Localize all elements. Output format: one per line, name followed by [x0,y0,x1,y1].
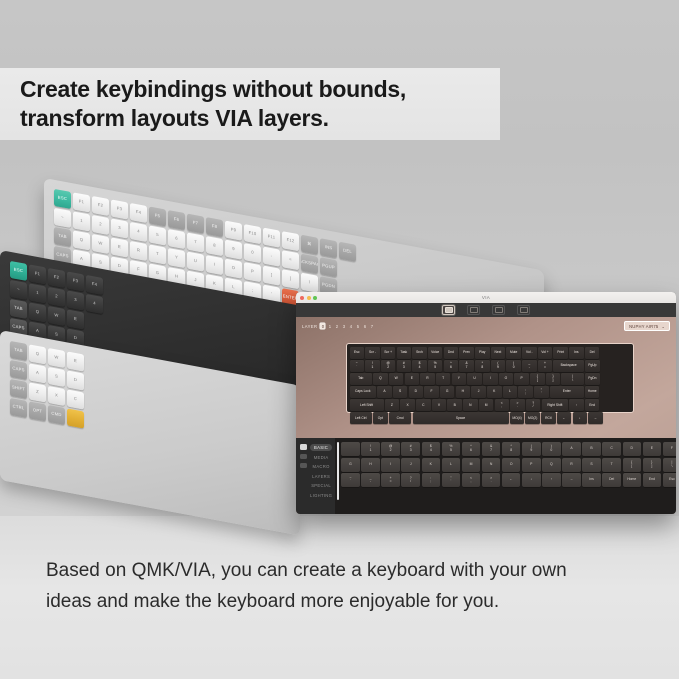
key-base-legend: 8 [481,366,483,369]
keycap: C [67,389,84,409]
key-base-legend: ' [541,392,542,395]
keycap: F3 [67,271,84,291]
picker-key[interactable]: (9 [522,442,541,456]
via-key[interactable]: &7 [459,360,474,372]
picker-key[interactable]: *8 [502,442,521,456]
layer-button-7[interactable]: 7 [369,323,374,329]
key-base-legend: 4 [419,366,421,369]
keycap: F3 [111,199,128,219]
via-key[interactable]: C [416,399,431,411]
picker-key[interactable]: A [562,442,581,456]
picker-key[interactable]: Q [542,458,561,472]
picker-key[interactable]: F [663,442,676,456]
via-key[interactable]: B [447,399,462,411]
picker-key[interactable]: B [582,442,601,456]
key-base-legend: 6 [470,449,472,453]
keycap: INS [320,238,337,258]
via-key[interactable]: A [377,386,392,398]
via-key[interactable]: ↓ [573,412,588,424]
keycap: F5 [149,206,166,226]
layer-label: LAYER [302,324,317,329]
headline-banner: Create keybindings without bounds, trans… [0,68,500,140]
via-key[interactable]: V [432,399,447,411]
keycap: S [48,367,65,387]
keycap: 2 [48,287,65,307]
via-topbar: LAYER 01234567 NUPHY AIR75 ⌄ [296,317,676,331]
via-key[interactable]: Play [475,347,490,359]
via-key[interactable]: Vol + [538,347,553,359]
sidebar-item-lighting[interactable]: LIGHTING [310,492,332,499]
via-key[interactable]: <, [495,399,510,411]
via-key-row: Left ShiftZXCVBNM<,>.?/Right Shift↑End [350,399,631,411]
sidebar-item-layers[interactable]: LAYERS [310,473,332,480]
sidebar-rail[interactable] [299,443,307,509]
picker-key[interactable]: → [562,473,581,487]
picker-key[interactable]: Del [602,473,621,487]
keycap: ] [282,269,299,289]
picker-key[interactable]: H [361,458,380,472]
key-base-legend: 7 [490,449,492,453]
key-base-legend: 1 [370,449,372,453]
keycap: 0 [244,243,261,263]
via-key[interactable]: Space [413,412,509,424]
via-key[interactable]: |\ [561,373,584,385]
keycap: ESC [10,261,27,281]
via-key[interactable]: Print [553,347,568,359]
keycap: T [149,244,166,264]
key-base-legend: ; [430,480,431,484]
keycap: OPT [29,401,46,421]
sidebar-item-macro[interactable]: MACRO [310,463,332,470]
keycap: 4 [130,222,147,242]
keyboard-tab-icon[interactable] [442,305,455,315]
keycap: F7 [187,214,204,234]
via-key[interactable]: D [409,386,424,398]
via-key[interactable]: O [499,373,514,385]
via-key[interactable]: Scr + [381,347,396,359]
key-base-legend: 0 [513,366,515,369]
key-base-legend: 9 [530,449,532,453]
caption-line-1: Based on QMK/VIA, you can create a keybo… [46,556,646,587]
sidebar-item-basic[interactable]: BASIC [310,444,332,451]
keycap [67,408,84,428]
via-body: LAYER 01234567 NUPHY AIR75 ⌄ EscScr -Scr… [296,317,676,514]
picker-key[interactable]: I [381,458,400,472]
key-base-legend: ' [451,480,452,484]
via-key[interactable]: Home [585,386,600,398]
layer-selector[interactable]: LAYER 01234567 [302,323,374,329]
keycap: X [48,386,65,406]
key-base-legend: ] [553,379,554,382]
picker-key[interactable]: G [341,458,360,472]
picker-key[interactable]: >. [482,473,501,487]
keycode-picker[interactable]: !1@2#3$4%5^6&7*8(9)0ABCDEFGHIJKLMNOPQRST… [335,438,676,514]
via-key[interactable]: M [479,399,494,411]
keycap: F10 [244,224,261,244]
keycap: 6 [168,229,185,249]
keycap: F4 [130,203,147,223]
via-key[interactable]: "' [534,386,549,398]
keycap: F4 [86,275,103,295]
via-key[interactable]: MO(4) [510,412,525,424]
key-base-legend: = [390,480,392,484]
via-key-row: TabQWERTYUIOP{[}]|\PgDn [350,373,631,385]
picker-key[interactable]: E [643,442,662,456]
via-key[interactable]: End [585,399,600,411]
keycap: - [263,247,280,267]
via-key[interactable]: Del [585,347,600,359]
via-key[interactable]: S [393,386,408,398]
macro-category-icon[interactable] [300,463,307,468]
picker-rows[interactable]: !1@2#3$4%5^6&7*8(9)0ABCDEFGHIJKLMNOPQRST… [341,442,676,487]
via-key[interactable]: J [471,386,486,398]
picker-key[interactable]: N [482,458,501,472]
key-base-legend: - [529,366,530,369]
key-base-legend: - [370,480,371,484]
picker-key[interactable]: Ins [582,473,601,487]
via-key[interactable]: ?/ [526,399,541,411]
device-dropdown[interactable]: NUPHY AIR75 ⌄ [624,321,670,331]
via-key[interactable]: Task [397,347,412,359]
key-base-legend: / [410,480,411,484]
layouts-tab-icon[interactable] [467,305,480,315]
via-key[interactable]: _- [522,360,537,372]
keycap: ESC [54,189,71,209]
headline-line-1: Create keybindings without bounds, [20,75,500,104]
via-key[interactable]: L [503,386,518,398]
key-base-legend: , [471,480,472,484]
via-key[interactable]: Scr - [365,347,380,359]
picker-key[interactable]: ← [502,473,521,487]
keycap: W [48,348,65,368]
key-base-legend: 7 [466,366,468,369]
picker-key[interactable]: K [422,458,441,472]
keycap: SHIFT [10,379,27,399]
via-key[interactable]: (9 [491,360,506,372]
via-key[interactable]: Tab [350,373,373,385]
keycap: 1 [73,211,90,231]
keycap: Y [168,248,185,268]
keycap: F11 [263,228,280,248]
settings-tab-icon[interactable] [492,305,505,315]
via-app-window[interactable]: VIA LAYER 01234567 NUPHY AIR75 ⌄ EscScr … [296,292,676,514]
picker-scroll-left[interactable] [337,442,339,500]
picker-key[interactable]: End [643,473,662,487]
via-key[interactable]: Vol - [522,347,537,359]
keycap: E [67,309,84,329]
picker-key[interactable]: }] [643,458,662,472]
via-key[interactable]: E [405,373,420,385]
via-key[interactable]: Dnd [444,347,459,359]
via-key[interactable]: R [420,373,435,385]
via-key[interactable]: Mute [506,347,521,359]
picker-key[interactable]: %5 [442,442,461,456]
via-key[interactable]: >. [510,399,525,411]
keycap: I [206,255,223,275]
key-base-legend: 5 [450,449,452,453]
key-base-legend: 4 [430,449,432,453]
keycap: TAB [10,299,27,319]
picker-key[interactable]: )0 [542,442,561,456]
key-base-legend: 9 [497,366,499,369]
via-key[interactable]: N [463,399,478,411]
key-base-legend: 1 [372,366,374,369]
via-key[interactable]: ↑ [569,399,584,411]
picker-key[interactable]: M [462,458,481,472]
via-key[interactable]: ~` [350,360,365,372]
keycap: E [111,237,128,257]
via-keyboard-render[interactable]: EscScr -Scr +TaskSrchVoiceDndPrevPlayNex… [346,343,634,413]
via-key[interactable]: RCtl [541,412,556,424]
keycap: PGUP [320,257,337,277]
key-base-legend: \ [572,379,573,382]
keycap: Q [73,230,90,250]
key-base-legend: 2 [390,449,392,453]
picker-key[interactable]: :; [422,473,441,487]
keycap: [ [263,266,280,286]
picker-key[interactable]: Esc [663,473,676,487]
keycap: 3 [67,290,84,310]
via-key[interactable]: K [487,386,502,398]
via-key[interactable]: :; [518,386,533,398]
keycap: 3 [111,218,128,238]
keycap: TAB [10,341,27,361]
via-key[interactable]: → [588,412,603,424]
keycap: 9 [225,240,242,260]
key-base-legend: 6 [450,366,452,369]
via-key[interactable]: W [389,373,404,385]
picker-key[interactable]: $4 [422,442,441,456]
key-base-legend: 8 [510,449,512,453]
picker-key[interactable]: D [623,442,642,456]
via-key[interactable]: Opt [373,412,388,424]
chevron-down-icon: ⌄ [661,324,665,329]
via-key[interactable]: Q [373,373,388,385]
via-key[interactable]: Z [385,399,400,411]
picker-key[interactable]: ~` [341,473,360,487]
via-key[interactable]: {[ [530,373,545,385]
via-key[interactable]: Y [452,373,467,385]
via-key-row: ~`!1@2#3$4%5^6&7*8(9)0_-+=BackspacePgUp [350,360,631,372]
keycap: ⌘ [301,235,318,255]
via-key[interactable]: Left Shift [350,399,384,411]
picker-key[interactable] [341,442,360,456]
via-key[interactable]: ← [557,412,572,424]
keycap: \ [301,273,318,293]
keycap: F12 [282,231,299,251]
keycap: Q [29,302,46,322]
via-key[interactable]: Cmd [389,412,412,424]
picker-key[interactable]: !1 [361,442,380,456]
keycap: P [244,262,261,282]
via-key-row: Caps LockASDFGHJKL:;"'EnterHome [350,386,631,398]
via-key[interactable]: Left Ctrl [350,412,373,424]
via-key[interactable]: ^6 [444,360,459,372]
via-key[interactable]: Srch [412,347,427,359]
layer-button-0[interactable]: 0 [320,323,325,329]
keycap: 8 [206,236,223,256]
keycap: ~ [54,208,71,228]
keycap: A [29,363,46,383]
keycap: F2 [92,196,109,216]
picker-key[interactable]: J [401,458,420,472]
via-key[interactable]: H [456,386,471,398]
picker-key[interactable]: @2 [381,442,400,456]
key-base-legend: [ [537,379,538,382]
keycap: F1 [73,192,90,212]
sidebar-menu[interactable]: BASICMEDIAMACROLAYERSSPECIALLIGHTING [310,443,332,509]
via-key[interactable]: += [538,360,553,372]
picker-key[interactable]: &7 [482,442,501,456]
promo-image: Create keybindings without bounds, trans… [0,0,679,679]
via-key[interactable]: @2 [381,360,396,372]
key-base-legend: \ [671,465,672,469]
picker-key[interactable]: ↑ [542,473,561,487]
picker-key[interactable]: <, [462,473,481,487]
layer-button-2[interactable]: 2 [334,323,339,329]
via-key-row: Left CtrlOptCmdSpaceMO(4)MO(2)RCtl←↓→ [350,412,631,424]
via-key[interactable]: Next [491,347,506,359]
keycap: 7 [187,233,204,253]
via-key[interactable]: G [440,386,455,398]
picker-key[interactable]: ↓ [522,473,541,487]
picker-key[interactable]: _- [361,473,380,487]
via-toolbar[interactable] [296,303,676,317]
picker-key[interactable]: Home [623,473,642,487]
keycap: Q [29,344,46,364]
via-key[interactable]: Esc [350,347,365,359]
picker-key[interactable]: T [602,458,621,472]
picker-key[interactable]: ^6 [462,442,481,456]
keycap: E [67,351,84,371]
keycap: F8 [206,217,223,237]
via-sidebar[interactable]: BASICMEDIAMACROLAYERSSPECIALLIGHTING [296,438,335,514]
layer-button-6[interactable]: 6 [362,323,367,329]
picker-key[interactable]: ?/ [401,473,420,487]
key-base-legend: / [533,405,534,408]
window-title: VIA [296,295,676,300]
layer-button-1[interactable]: 1 [327,323,332,329]
key-base-legend: 3 [410,449,412,453]
key-base-legend: 5 [434,366,436,369]
keycap: 2 [92,215,109,235]
via-key[interactable]: P [514,373,529,385]
layer-buttons[interactable]: 01234567 [320,323,374,329]
via-key[interactable]: T [436,373,451,385]
picker-row: !1@2#3$4%5^6&7*8(9)0ABCDEF [341,442,676,456]
picker-key[interactable]: R [562,458,581,472]
keycap: F1 [29,264,46,284]
via-key[interactable]: MO(2) [525,412,540,424]
layer-button-5[interactable]: 5 [355,323,360,329]
key-base-legend: ` [356,366,357,369]
key-base-legend: . [517,405,518,408]
via-key[interactable]: Right Shift [542,399,569,411]
keycap: 5 [149,225,166,245]
sidebar-item-special[interactable]: SPECIAL [310,482,332,489]
picker-key[interactable]: L [442,458,461,472]
via-key[interactable]: #3 [397,360,412,372]
keycap: CTRL [10,398,27,418]
picker-key[interactable]: C [602,442,621,456]
key-base-legend: 0 [550,449,552,453]
key-base-legend: [ [631,465,632,469]
keycap: W [48,306,65,326]
keycap: F2 [48,268,65,288]
via-key[interactable]: Enter [550,386,584,398]
keycap: 4 [86,294,103,314]
layer-button-4[interactable]: 4 [348,323,353,329]
via-key[interactable]: U [467,373,482,385]
keycap: ~ [10,280,27,300]
via-key[interactable]: Caps Lock [350,386,377,398]
via-titlebar: VIA [296,292,676,303]
picker-key[interactable]: O [502,458,521,472]
sidebar-item-media[interactable]: MEDIA [310,454,332,461]
caption-line-2: ideas and make the keyboard more enjoyab… [46,587,646,618]
keycap-category-icon[interactable] [300,444,307,450]
keycap: Z [29,382,46,402]
key-base-legend: 2 [387,366,389,369]
via-key[interactable]: I [483,373,498,385]
device-name: NUPHY AIR75 [629,324,658,329]
picker-key[interactable]: P [522,458,541,472]
keycap: CAPS [10,360,27,380]
picker-key[interactable]: += [381,473,400,487]
info-tab-icon[interactable] [517,305,530,315]
via-key[interactable]: $4 [412,360,427,372]
via-key[interactable]: F [424,386,439,398]
picker-key[interactable]: |\ [663,458,676,472]
keycap: F6 [168,210,185,230]
via-key[interactable]: PgDn [585,373,600,385]
picker-row: GHIJKLMNOPQRST{[}]|\ [341,458,676,472]
via-key[interactable]: !1 [365,360,380,372]
caption-text: Based on QMK/VIA, you can create a keybo… [46,556,646,618]
via-key[interactable]: Voice [428,347,443,359]
keycap: CMD [48,405,65,425]
via-key[interactable]: )0 [506,360,521,372]
picker-key[interactable]: #3 [401,442,420,456]
via-key-row: EscScr -Scr +TaskSrchVoiceDndPrevPlayNex… [350,347,631,359]
keycap: O [225,259,242,279]
keycap: DEL [339,242,356,262]
keycap: W [92,234,109,254]
key-base-legend: ` [350,480,351,484]
picker-key[interactable]: {[ [623,458,642,472]
keycap: U [187,252,204,272]
via-key[interactable]: }] [546,373,561,385]
key-base-legend: , [501,405,502,408]
via-key[interactable]: Prev [459,347,474,359]
keycap: D [67,370,84,390]
keycap: = [282,250,299,270]
via-key[interactable]: Backspace [553,360,584,372]
via-key[interactable]: *8 [475,360,490,372]
via-key[interactable]: %5 [428,360,443,372]
via-bottom-panel: BASICMEDIAMACROLAYERSSPECIALLIGHTING !1@… [296,438,676,514]
media-category-icon[interactable] [300,454,307,459]
picker-row: ~`_-+=?/:;"'<,>.←↓↑→InsDelHomeEndEsc [341,473,676,487]
keycap: F9 [225,221,242,241]
via-key[interactable]: PgUp [585,360,600,372]
keycap: TAB [54,227,71,247]
via-key[interactable]: X [400,399,415,411]
via-key[interactable]: Ins [569,347,584,359]
picker-key[interactable]: "' [442,473,461,487]
picker-key[interactable]: S [582,458,601,472]
layer-button-3[interactable]: 3 [341,323,346,329]
